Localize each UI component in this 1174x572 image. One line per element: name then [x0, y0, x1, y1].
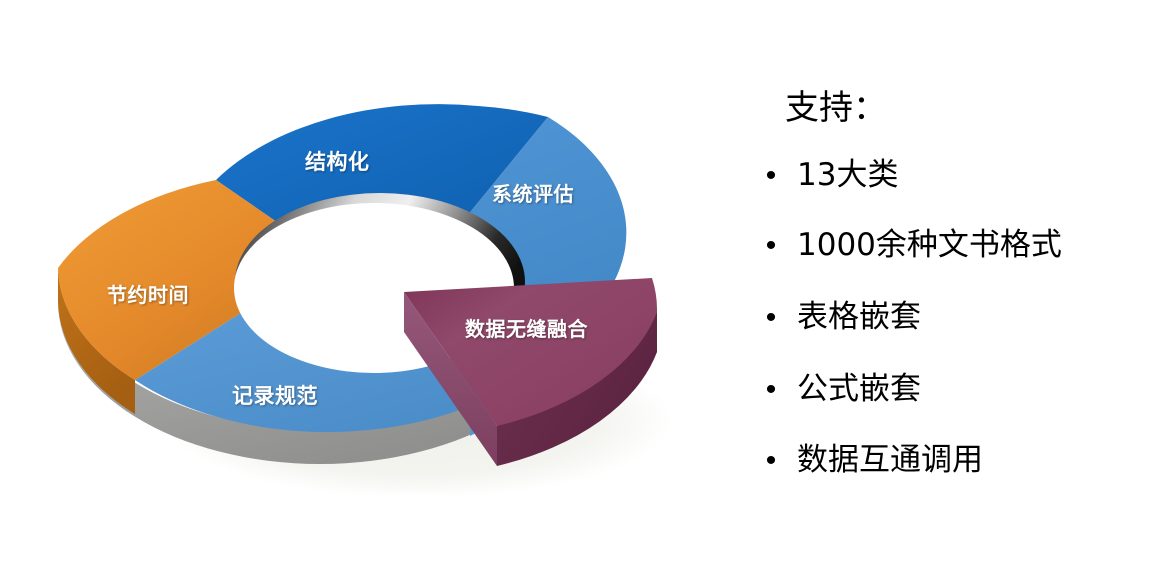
bullet-marker-icon: • — [745, 231, 797, 261]
list-item: • 表格嵌套 — [745, 300, 921, 334]
doughnut-chart: 结构化 系统评估 节约时间 记录规范 数据无缝融合 — [0, 0, 740, 572]
list-item: • 公式嵌套 — [745, 372, 921, 406]
bullet-marker-icon: • — [745, 161, 797, 191]
list-item-label: 数据互通调用 — [797, 443, 983, 477]
list-item-label: 13大类 — [797, 158, 898, 192]
list-item: • 13大类 — [745, 158, 898, 192]
list-item: • 数据互通调用 — [745, 443, 983, 477]
doughnut-chart-svg — [0, 0, 740, 572]
list-item: • 1000余种文书格式 — [745, 228, 1062, 262]
list-item-label: 1000余种文书格式 — [797, 228, 1062, 262]
list-item-label: 公式嵌套 — [797, 372, 921, 406]
support-heading: 支持： — [785, 80, 887, 129]
list-item-label: 表格嵌套 — [797, 300, 921, 334]
bullet-marker-icon: • — [745, 375, 797, 405]
bullet-marker-icon: • — [745, 446, 797, 476]
bullet-marker-icon: • — [745, 303, 797, 333]
support-text-panel: 支持： • 13大类 • 1000余种文书格式 • 表格嵌套 • 公式嵌套 • … — [740, 0, 1174, 572]
